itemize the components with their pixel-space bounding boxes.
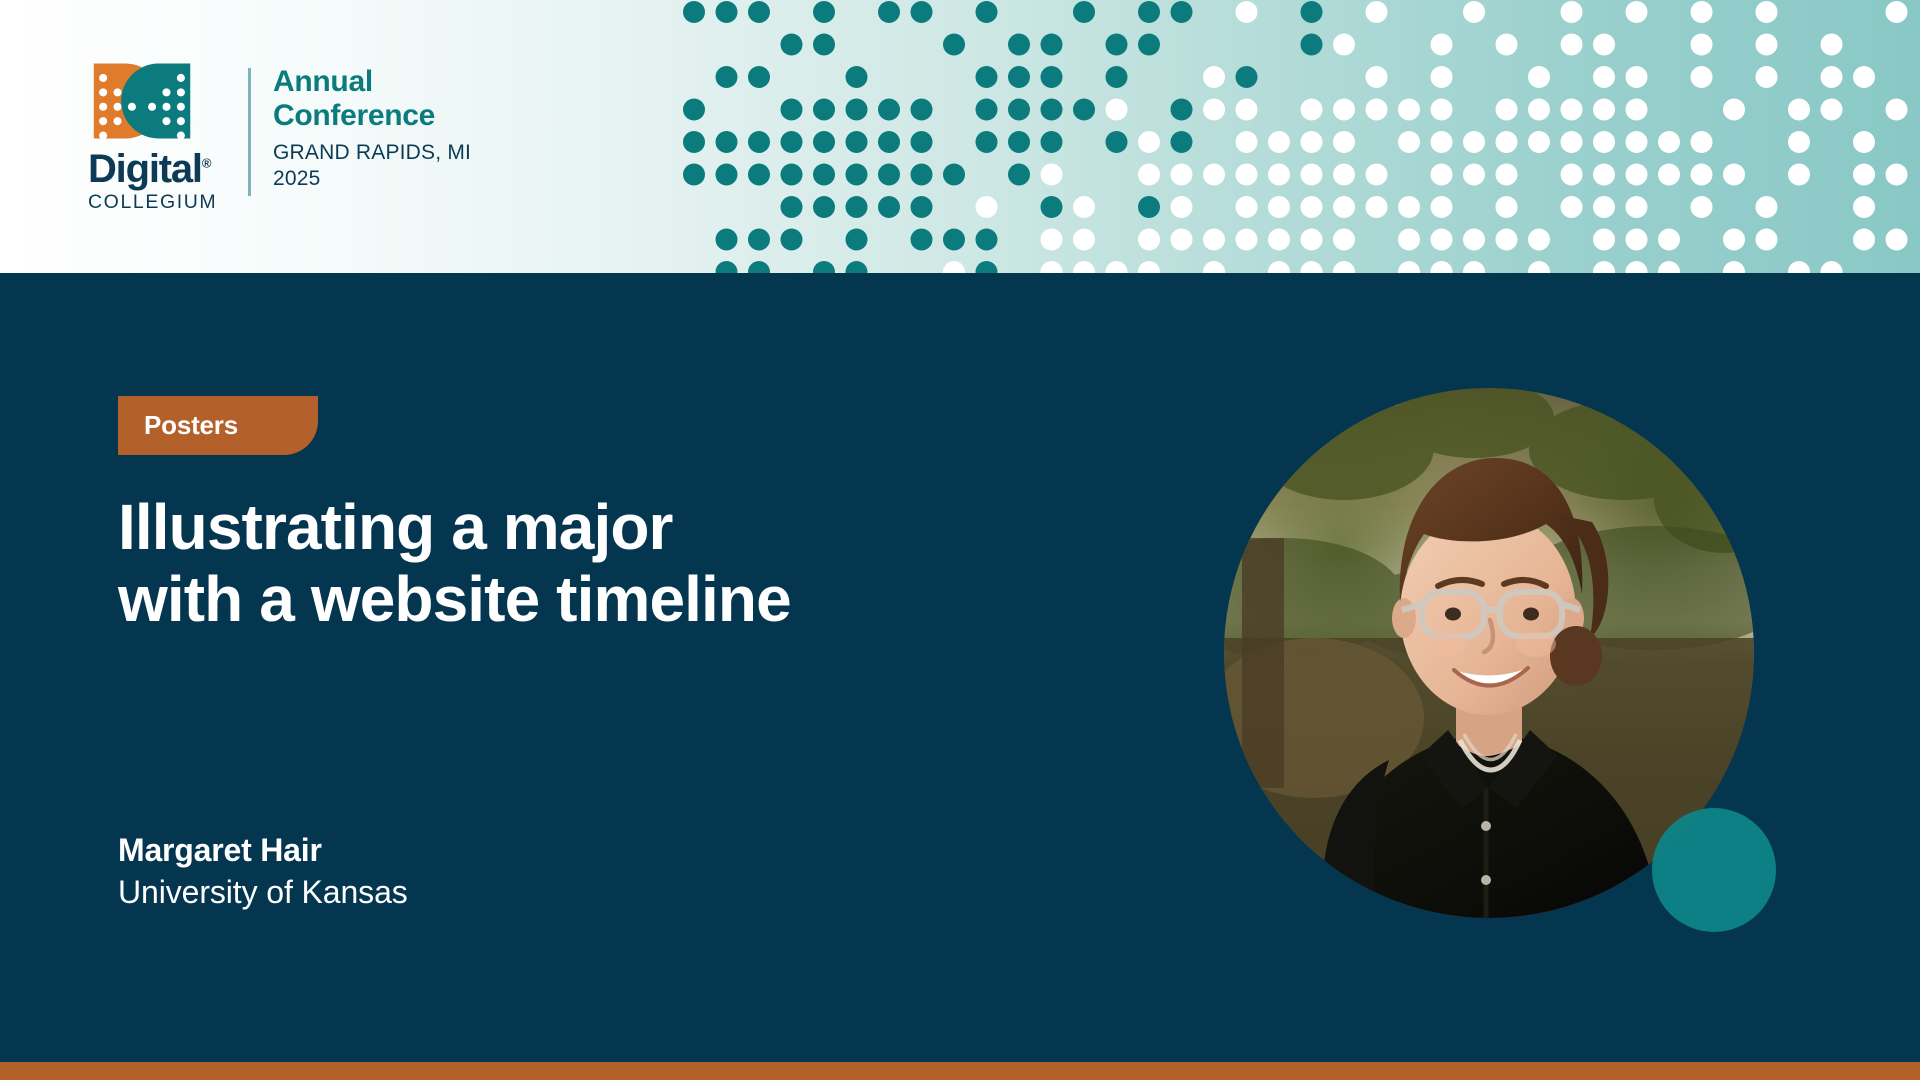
category-badge[interactable]: Posters [118,396,318,455]
logo-vertical-divider [248,68,251,196]
header-band: Digital® COLLEGIUM Annual Conference GRA… [0,0,1920,278]
speaker-block: Margaret Hair University of Kansas [118,830,408,912]
speaker-portrait [1224,388,1754,918]
logo-wordmark-digital-text: Digital [88,147,202,191]
session-title-line-2: with a website timeline [118,564,1078,636]
event-title-line-1: Annual [273,65,471,99]
session-title-line-1: Illustrating a major [118,492,1078,564]
session-title: Illustrating a major with a website time… [118,492,1078,635]
event-title-line-2: Conference [273,99,471,133]
logo-lockup[interactable]: Digital® COLLEGIUM Annual Conference GRA… [88,62,471,213]
logo-wordmark-collegium: COLLEGIUM [88,193,226,213]
logo-wordmark-digital: Digital® [88,149,226,189]
digital-collegium-logo[interactable]: Digital® COLLEGIUM [88,62,226,213]
category-badge-label: Posters [144,410,238,441]
dc-monogram-icon [88,62,196,140]
event-year: 2025 [273,166,471,192]
speaker-affiliation: University of Kansas [118,872,408,912]
registered-trademark-icon: ® [202,156,210,171]
speaker-name: Margaret Hair [118,830,408,870]
event-location: GRAND RAPIDS, MI [273,140,471,166]
footer-accent-bar [0,1062,1920,1080]
event-identity-block: Annual Conference GRAND RAPIDS, MI 2025 [273,62,471,191]
teal-accent-circle [1652,808,1776,932]
